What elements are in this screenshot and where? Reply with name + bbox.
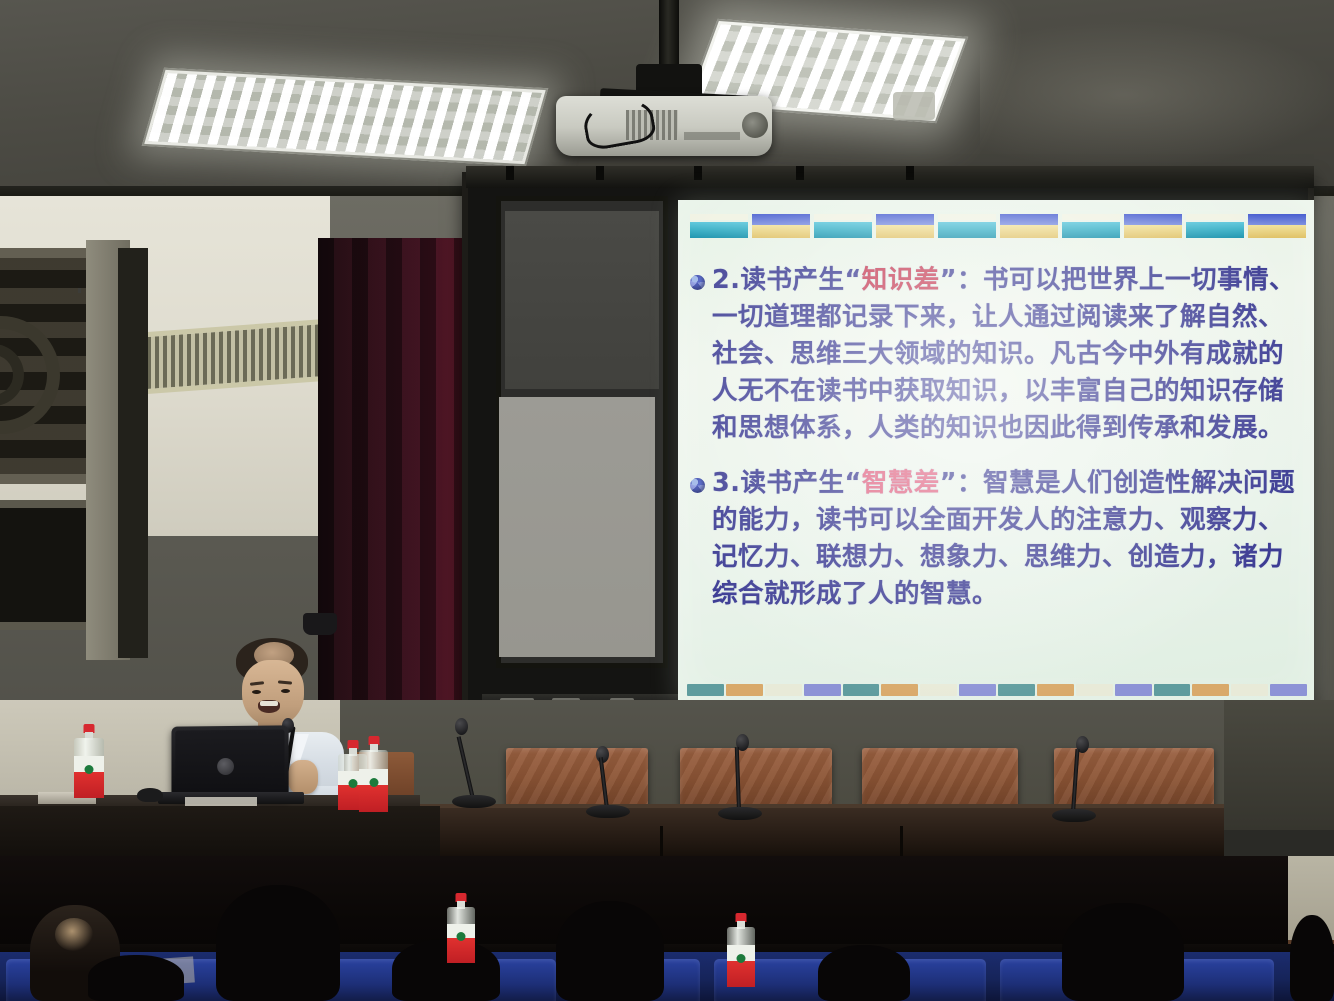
band-cell-teal — [688, 212, 750, 242]
band-segment — [1154, 684, 1191, 696]
band-cell-blue-yellow — [1246, 212, 1308, 242]
slide-bullet-3: 3.读书产生“智慧差”：智慧是人们创造性解决问题的能力，读书可以全面开发人的注意… — [686, 465, 1304, 613]
audience-head — [818, 945, 910, 1001]
globe-icon — [690, 478, 705, 493]
projection-screen: 2.读书产生“知识差”：书可以把世界上一切事情、一切道理都记录下来，让人通过阅读… — [678, 200, 1314, 704]
band-segment — [843, 684, 880, 696]
band-cell-blue-yellow — [1122, 212, 1184, 242]
whiteboard-mark — [78, 288, 81, 293]
colon: ： — [957, 468, 983, 498]
panel-desk-front — [398, 808, 1224, 860]
presenter-eye-right — [281, 689, 290, 693]
paper-sheet — [185, 797, 257, 806]
whiteboard-lower-panel — [499, 397, 655, 657]
bench-seam — [660, 826, 663, 860]
audience-head — [1062, 903, 1184, 1001]
slide-paragraph: 3.读书产生“智慧差”：智慧是人们创造性解决问题的能力，读书可以全面开发人的注意… — [712, 465, 1304, 613]
band-segment — [1115, 684, 1152, 696]
water-bottle-3 — [359, 736, 388, 812]
bottle-body — [359, 750, 388, 812]
audience-head — [556, 901, 664, 1001]
bottle-body — [447, 907, 475, 963]
band-cell-blue-yellow — [998, 212, 1060, 242]
microphone-base — [1052, 809, 1096, 822]
presenter-face — [242, 660, 304, 726]
open-quote: “ — [844, 468, 861, 498]
band-cell-teal — [1060, 212, 1122, 242]
rail-clip — [694, 166, 702, 180]
slide-paragraph: 2.读书产生“知识差”：书可以把世界上一切事情、一切道理都记录下来，让人通过阅读… — [712, 262, 1304, 447]
rail-clip — [906, 166, 914, 180]
band-segment — [959, 684, 996, 696]
audience-head — [216, 885, 340, 1001]
open-quote: “ — [844, 265, 861, 295]
audience-head — [1290, 915, 1334, 1001]
bottle-body — [727, 927, 755, 987]
band-segment — [920, 684, 957, 696]
band-cell-blue-yellow — [750, 212, 812, 242]
band-cell-teal — [936, 212, 998, 242]
doorway-shadow — [118, 248, 148, 658]
band-segment — [1192, 684, 1229, 696]
slide-content: 2.读书产生“知识差”：书可以把世界上一切事情、一切道理都记录下来，让人通过阅读… — [686, 262, 1304, 631]
lecture-hall-photo: 2.读书产生“知识差”：书可以把世界上一切事情、一切道理都记录下来，让人通过阅读… — [0, 0, 1334, 1001]
bottle-label-emblem — [369, 778, 378, 787]
microphone-4 — [586, 746, 626, 818]
projector-nameplate — [684, 132, 740, 140]
bottle-label-emblem — [737, 954, 746, 963]
slide-bottom-decorative-band — [686, 684, 1308, 696]
band-segment — [998, 684, 1035, 696]
presenter-brow-right — [278, 680, 292, 684]
water-bottle-1 — [74, 724, 104, 798]
microphone-base — [718, 807, 762, 820]
band-tile — [688, 212, 812, 242]
band-segment — [765, 684, 802, 696]
band-segment — [1270, 684, 1307, 696]
wall-speaker — [303, 613, 337, 635]
audience-head — [88, 955, 184, 1001]
globe-icon — [690, 275, 705, 290]
band-tile — [1060, 212, 1184, 242]
dell-logo — [217, 758, 234, 775]
bullet-lead: 读书产生 — [740, 468, 844, 498]
close-quote: ” — [940, 468, 957, 498]
bottle-label-red — [74, 772, 104, 798]
colon: ： — [957, 265, 983, 295]
audience-head — [392, 939, 500, 1001]
microphone-neck — [735, 747, 741, 811]
presenter-brow-left — [250, 681, 264, 685]
band-tile — [812, 212, 936, 242]
bottle-label-emblem — [348, 779, 357, 788]
band-segment — [1037, 684, 1074, 696]
laptop-screen[interactable] — [171, 725, 288, 798]
rail-clip — [506, 166, 514, 180]
bullet-highlight: 知识差 — [862, 265, 940, 295]
band-segment — [881, 684, 918, 696]
close-quote: ” — [940, 265, 957, 295]
whiteboard-upper-panel — [505, 211, 659, 389]
stage-right-wall — [1224, 700, 1334, 830]
audience-head-highlight — [55, 918, 93, 951]
microphone-1 — [452, 718, 496, 808]
audience-water-bottle-2 — [727, 913, 755, 987]
projector-lens — [742, 112, 768, 138]
presenter-eye-left — [252, 690, 261, 694]
bottle-body — [74, 738, 104, 798]
presenter-mouth — [258, 700, 280, 713]
band-tile — [936, 212, 1060, 242]
bench-seam — [900, 826, 903, 860]
band-segment — [726, 684, 763, 696]
band-segment — [804, 684, 841, 696]
band-cell-teal — [1184, 212, 1246, 242]
band-cell-teal — [812, 212, 874, 242]
bottle-label-red — [727, 961, 755, 987]
microphone-base — [452, 795, 496, 808]
bullet-number: 3. — [712, 468, 740, 498]
bottle-label-red — [359, 785, 388, 812]
ceiling-light-reflection — [980, 20, 1334, 170]
bottle-label-red — [447, 938, 475, 963]
microphone-neck — [457, 736, 475, 799]
bottle-label-emblem — [457, 932, 466, 941]
slide-top-decorative-band — [688, 212, 1308, 242]
microphone-neck — [1071, 749, 1079, 813]
band-cell-blue-yellow — [874, 212, 936, 242]
band-tile — [1184, 212, 1308, 242]
computer-mouse[interactable] — [137, 788, 163, 802]
bullet-number: 2. — [712, 265, 740, 295]
microphone-neck — [599, 757, 609, 809]
projector-mount-pipe — [659, 0, 679, 70]
whiteboard — [496, 196, 668, 668]
microphone-head — [455, 718, 468, 735]
ceiling-fixture-nub — [893, 92, 935, 120]
bullet-highlight: 智慧差 — [862, 468, 940, 498]
microphone-base — [586, 805, 630, 818]
audience-water-bottle-1 — [447, 893, 475, 963]
microphone-2 — [718, 734, 762, 820]
presenter-hand — [288, 760, 318, 794]
bullet-lead: 读书产生 — [740, 265, 844, 295]
band-segment — [1231, 684, 1268, 696]
band-segment — [687, 684, 724, 696]
microphone-3 — [1052, 736, 1096, 822]
band-segment — [1076, 684, 1113, 696]
bottle-label-emblem — [85, 765, 94, 774]
screen-housing-top-rail — [466, 166, 1314, 188]
rail-clip — [796, 166, 804, 180]
slide-bullet-2: 2.读书产生“知识差”：书可以把世界上一切事情、一切道理都记录下来，让人通过阅读… — [686, 262, 1304, 447]
rail-clip — [596, 166, 604, 180]
